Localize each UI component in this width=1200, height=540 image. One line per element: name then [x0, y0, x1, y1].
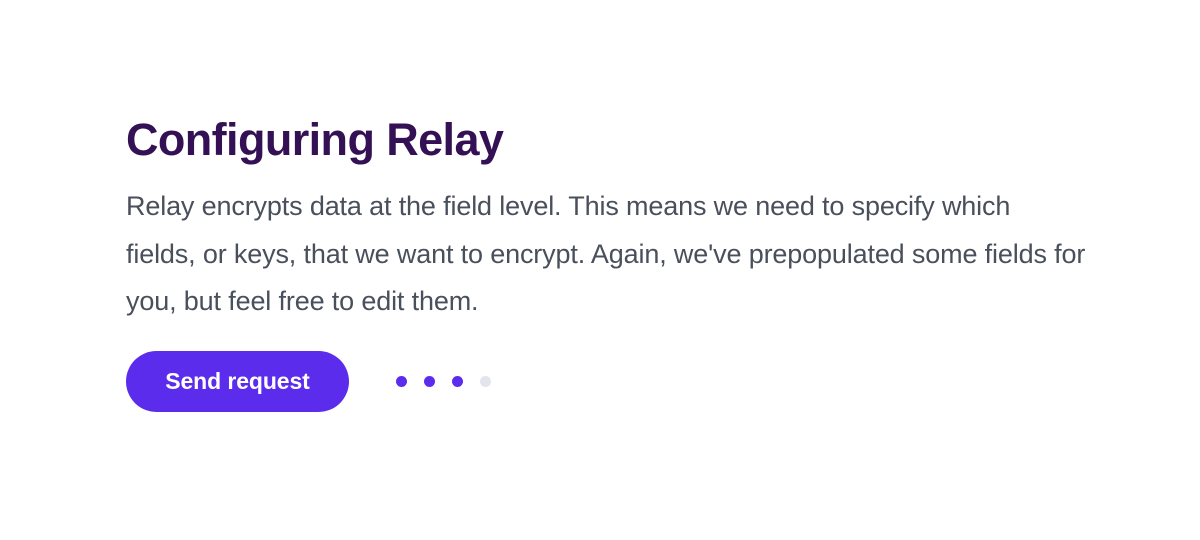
panel-description: Relay encrypts data at the field level. … — [126, 168, 1086, 326]
page-title: Configuring Relay — [126, 112, 1106, 168]
onboarding-step-panel: Configuring Relay Relay encrypts data at… — [0, 0, 1200, 540]
send-request-button[interactable]: Send request — [126, 351, 349, 412]
step-dot-4[interactable] — [480, 376, 491, 387]
step-indicator — [396, 376, 491, 387]
step-dot-2[interactable] — [424, 376, 435, 387]
content-panel: Configuring Relay Relay encrypts data at… — [126, 112, 1106, 412]
action-row: Send request — [126, 326, 1106, 412]
step-dot-1[interactable] — [396, 376, 407, 387]
step-dot-3[interactable] — [452, 376, 463, 387]
